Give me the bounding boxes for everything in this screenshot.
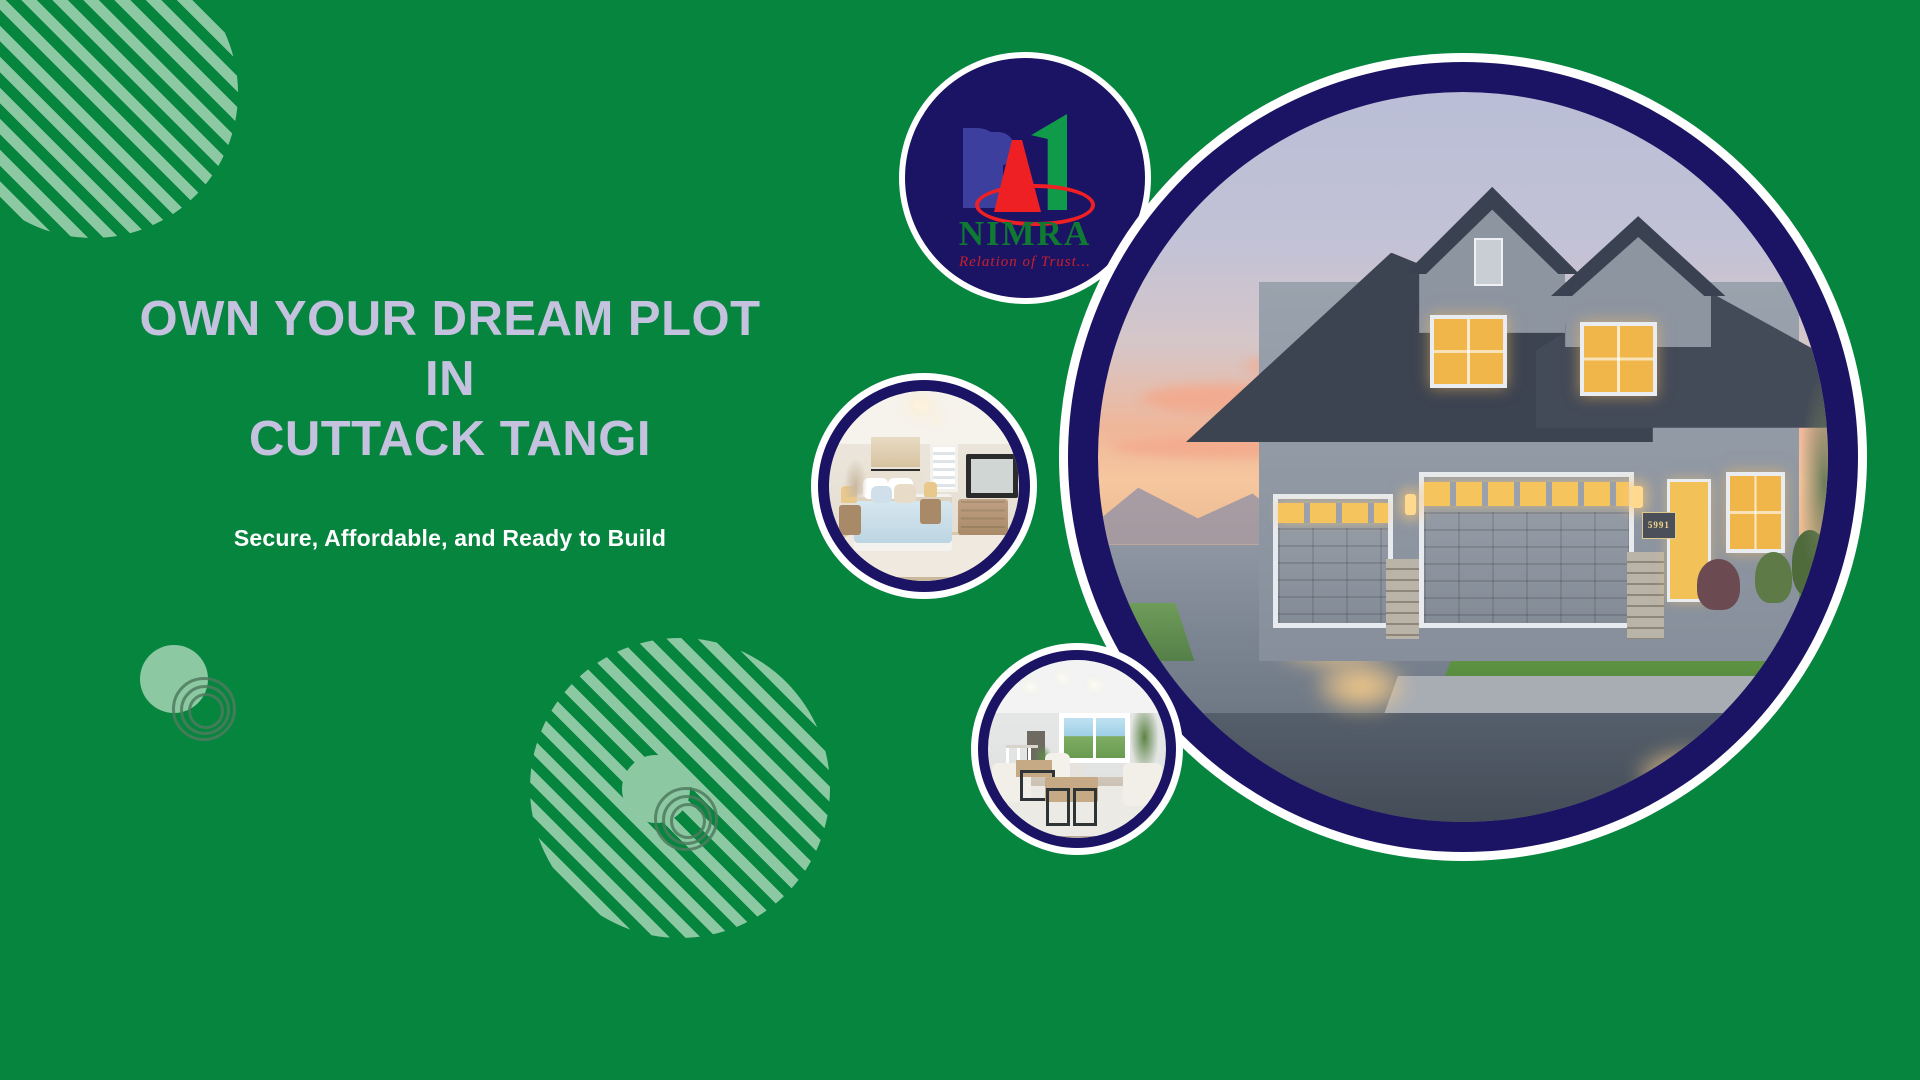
double-garage-door <box>1419 472 1633 628</box>
ceiling <box>988 660 1166 713</box>
copy-block: OWN YOUR DREAM PLOT IN CUTTACK TANGI Sec… <box>120 290 780 552</box>
picture-window <box>1059 713 1130 762</box>
shrub <box>1697 559 1741 610</box>
dresser <box>958 499 1007 535</box>
driveway-reflection <box>1317 661 1405 712</box>
house-number-plate: 5991 <box>1642 512 1676 539</box>
ring-outline <box>180 685 230 735</box>
wall-sconce-light <box>1631 486 1643 508</box>
coffee-table-legs <box>1045 788 1098 820</box>
tree <box>1799 369 1828 559</box>
garage-panels <box>1278 528 1388 622</box>
garage-panels <box>1424 512 1628 623</box>
photo-house-exterior-image: 5991 <box>1098 92 1828 822</box>
poster-canvas: OWN YOUR DREAM PLOT IN CUTTACK TANGI Sec… <box>0 0 1920 1080</box>
page-title: OWN YOUR DREAM PLOT IN CUTTACK TANGI <box>120 290 780 469</box>
ring-outline <box>172 677 236 741</box>
garage-window-row <box>1424 482 1628 505</box>
ring-outline <box>188 693 224 729</box>
accent-pillow <box>871 486 892 503</box>
stone-veneer <box>1627 552 1664 640</box>
wall-artwork <box>871 437 920 467</box>
striped-circle-top-left <box>0 0 238 238</box>
wall-sconce-light <box>1405 494 1417 516</box>
ring-motif-blob <box>140 645 208 713</box>
bedroom-scene <box>829 391 1019 581</box>
driveway-reflection <box>1638 749 1740 800</box>
photo-bedroom <box>818 380 1030 592</box>
upper-window <box>1430 315 1507 389</box>
ring-outline <box>662 795 712 845</box>
stone-veneer <box>1386 559 1419 639</box>
photo-living-room-image <box>988 660 1166 838</box>
nightstand <box>920 499 941 524</box>
photo-bedroom-image <box>829 391 1019 581</box>
living-room-scene <box>988 660 1166 838</box>
ceiling <box>829 391 1019 444</box>
sofa <box>1123 763 1162 806</box>
decorative-branches <box>844 459 867 497</box>
garage-window-row <box>1278 503 1388 523</box>
wall-mirror <box>966 454 1018 498</box>
table-lamp <box>924 482 937 497</box>
ring-outline <box>654 787 718 851</box>
photo-living-room <box>978 650 1176 848</box>
striped-circle-bottom <box>530 638 830 938</box>
logo-emblem-icon <box>949 106 1101 216</box>
ceiling-light <box>913 401 928 411</box>
shrub <box>1755 552 1792 603</box>
ring-outline <box>670 803 706 839</box>
subtitle: Secure, Affordable, and Ready to Build <box>120 525 780 552</box>
headline-line-1: OWN YOUR DREAM PLOT IN <box>139 292 760 406</box>
nightstand <box>839 505 862 535</box>
ring-motif-blob <box>622 755 690 823</box>
accent-pillow <box>894 484 917 503</box>
gable-vent <box>1474 238 1503 286</box>
side-window <box>1726 472 1785 553</box>
upper-window <box>1580 322 1657 396</box>
headline-line-2: CUTTACK TANGI <box>249 412 651 466</box>
ring-motif-left <box>140 645 235 740</box>
photo-house-exterior: 5991 <box>1068 62 1858 852</box>
house-exterior-scene: 5991 <box>1098 92 1828 822</box>
single-garage-door <box>1273 494 1393 628</box>
ring-motif-middle <box>622 755 717 850</box>
